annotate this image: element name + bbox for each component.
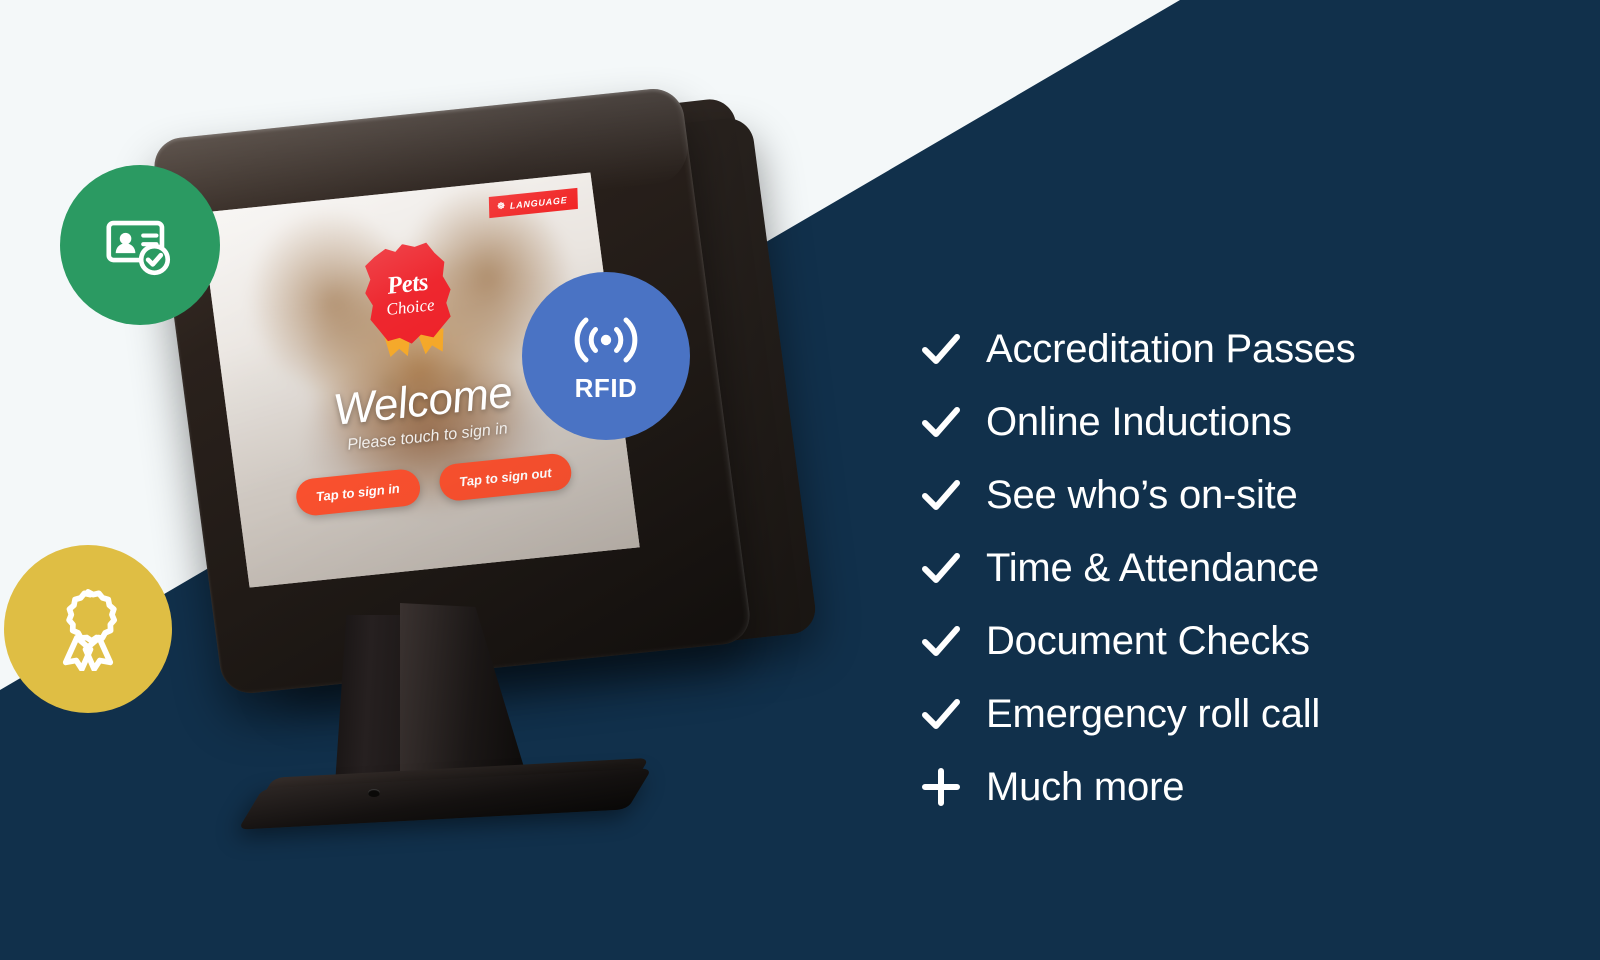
logo-line-1: Pets [385, 270, 429, 299]
feature-item: Accreditation Passes [918, 322, 1356, 376]
kiosk-base-screw [368, 789, 380, 797]
badge-award [4, 545, 172, 713]
check-icon [918, 472, 964, 518]
check-icon [918, 618, 964, 664]
feature-item: See who’s on-site [918, 468, 1356, 522]
badge-id-card [60, 165, 220, 325]
award-ribbon-icon [48, 587, 128, 671]
id-card-verified-icon [103, 208, 177, 282]
feature-label: Document Checks [986, 619, 1310, 664]
feature-item: Much more [918, 760, 1356, 814]
check-icon [918, 326, 964, 372]
language-button-label: LANGUAGE [510, 194, 568, 210]
plus-icon [918, 764, 964, 810]
feature-item: Document Checks [918, 614, 1356, 668]
feature-label: Online Inductions [986, 400, 1292, 445]
feature-label: Time & Attendance [986, 546, 1319, 591]
rfid-label: RFID [575, 373, 638, 404]
badge-rfid: RFID [522, 272, 690, 440]
globe-icon: ☸ [497, 200, 506, 212]
feature-label: See who’s on-site [986, 473, 1298, 518]
feature-item: Online Inductions [918, 395, 1356, 449]
feature-list: Accreditation Passes Online Inductions S… [918, 322, 1356, 814]
check-icon [918, 399, 964, 445]
kiosk-device: ProVisit ☸ LANGUAGE Pets Choice [150, 95, 750, 835]
logo-line-2: Choice [385, 296, 435, 318]
feature-label: Much more [986, 765, 1184, 810]
rfid-signal-icon [568, 309, 644, 371]
pets-choice-logo: Pets Choice [356, 239, 461, 348]
feature-label: Accreditation Passes [986, 327, 1356, 372]
feature-label: Emergency roll call [986, 692, 1320, 737]
feature-item: Time & Attendance [918, 541, 1356, 595]
check-icon [918, 691, 964, 737]
check-icon [918, 545, 964, 591]
feature-item: Emergency roll call [918, 687, 1356, 741]
promo-banner: ProVisit ☸ LANGUAGE Pets Choice [0, 0, 1600, 960]
logo-rosette-shape: Pets Choice [359, 240, 458, 348]
